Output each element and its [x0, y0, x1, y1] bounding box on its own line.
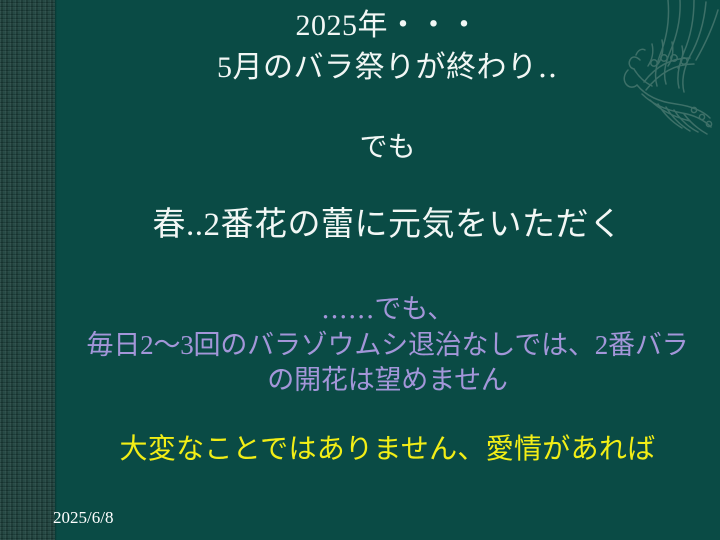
- emphasis-text: 春..2番花の蕾に元気をいただく: [55, 206, 720, 245]
- heading-line-1: 2025年・・・: [55, 8, 720, 43]
- heading-line-2: 5月のバラ祭りが終わり‥: [55, 50, 720, 85]
- warning-paragraph: ‥‥‥でも、 毎日2〜3回のバラゾウムシ退治なしでは、2番バラ の開花は望めませ…: [55, 292, 720, 399]
- left-textured-band: [0, 0, 55, 540]
- closing-message: 大変なことではありません、愛情があれば: [55, 433, 720, 466]
- transition-text: でも: [55, 131, 720, 164]
- date-stamp: 2025/6/8: [53, 508, 113, 528]
- slide-canvas: 2025年・・・ 5月のバラ祭りが終わり‥ でも 春..2番花の蕾に元気をいただ…: [0, 0, 720, 540]
